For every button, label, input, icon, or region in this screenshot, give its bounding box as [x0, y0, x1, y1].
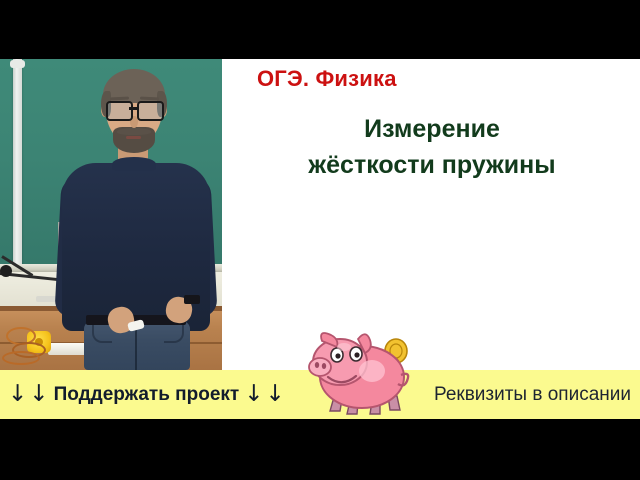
support-label: Поддержать проект [51, 384, 243, 406]
teacher-jeans-pocket [92, 325, 112, 343]
video-frame: ОГЭ. Физика Измерение жёсткости пружины … [0, 0, 640, 480]
page-title: Измерение жёсткости пружины [232, 112, 632, 183]
details-call-to-action: Реквизиты в описании [434, 370, 631, 419]
teacher-mouth [126, 136, 141, 139]
glasses-bridge [129, 107, 138, 110]
chalkboard-frame-knob [10, 60, 25, 68]
down-arrow-icon: ↓ [29, 383, 48, 406]
classroom-video-panel [0, 59, 222, 370]
teacher-jeans-seam [135, 327, 137, 370]
down-arrow-icon: ↓ [244, 383, 263, 406]
letterbox-top [0, 0, 640, 59]
glasses-lens-right [137, 101, 164, 121]
support-call-to-action[interactable]: ↓ ↓ Поддержать проект ↓ ↓ [8, 370, 285, 419]
sweater-collar [112, 157, 156, 171]
wristwatch [184, 295, 200, 304]
slide-title-line-2: жёсткости пружины [232, 148, 632, 184]
slide-kicker: ОГЭ. Физика [257, 66, 397, 92]
down-arrow-icon: ↓ [266, 383, 285, 406]
lab-stand-knob [0, 265, 12, 277]
details-label: Реквизиты в описании [434, 384, 631, 406]
copper-wire [2, 351, 40, 365]
piggy-bank-icon [300, 329, 422, 419]
glasses-icon [105, 101, 163, 117]
glasses-lens-left [106, 101, 133, 121]
slide-title-line-1: Измерение [232, 112, 632, 148]
teacher-moustache [117, 128, 151, 135]
down-arrow-icon: ↓ [8, 383, 27, 406]
letterbox-bottom [0, 419, 640, 480]
chalkboard-frame-post [13, 59, 22, 272]
